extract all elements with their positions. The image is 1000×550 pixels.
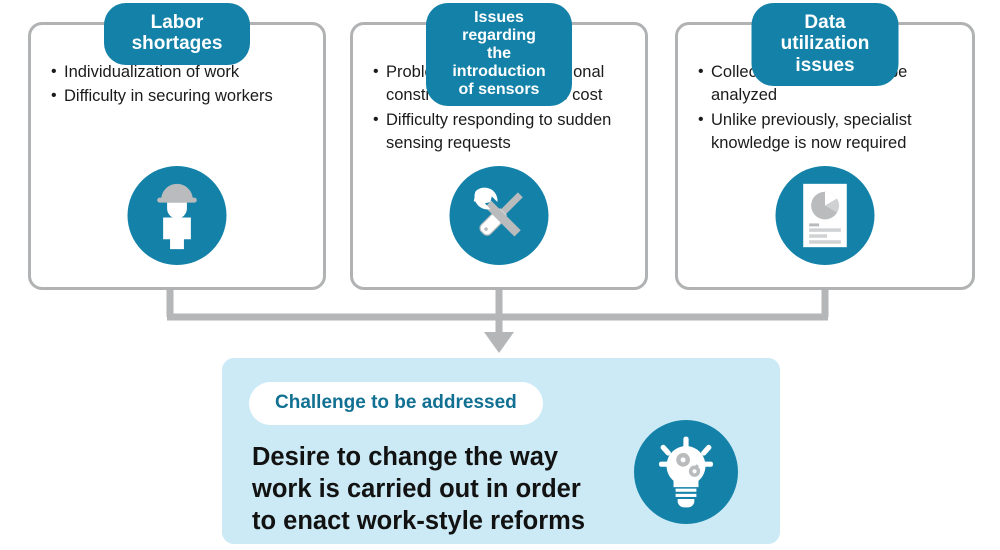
card-bullet-list: Individualization of work Difficulty in … bbox=[49, 61, 311, 110]
down-arrow-icon bbox=[484, 332, 514, 353]
conclusion-statement: Desire to change the way work is carried… bbox=[252, 442, 627, 538]
card-title-pill: Data utilization issues bbox=[752, 3, 899, 86]
wrench-screwdriver-icon bbox=[450, 166, 549, 265]
lightbulb-gears-icon bbox=[634, 420, 738, 524]
list-item: Difficulty responding to sudden sensing … bbox=[371, 109, 633, 156]
challenge-pill: Challenge to be addressed bbox=[249, 382, 543, 425]
list-item: Difficulty in securing workers bbox=[49, 85, 311, 108]
card-title-pill: Labor shortages bbox=[104, 3, 250, 65]
conclusion-panel: Challenge to be addressed Desire to chan… bbox=[222, 358, 780, 544]
list-item: Unlike previously, specialist knowledge … bbox=[696, 109, 960, 156]
construction-worker-icon bbox=[128, 166, 227, 265]
card-title-pill: Issues regarding the introduction of sen… bbox=[426, 3, 572, 106]
document-pie-chart-icon bbox=[776, 166, 875, 265]
problem-card-sensor-introduction: Issues regarding the introduction of sen… bbox=[350, 22, 648, 290]
problem-card-labor-shortages: Labor shortages Individualization of wor… bbox=[28, 22, 326, 290]
problem-card-data-utilization: Data utilization issues Collected data n… bbox=[675, 22, 975, 290]
